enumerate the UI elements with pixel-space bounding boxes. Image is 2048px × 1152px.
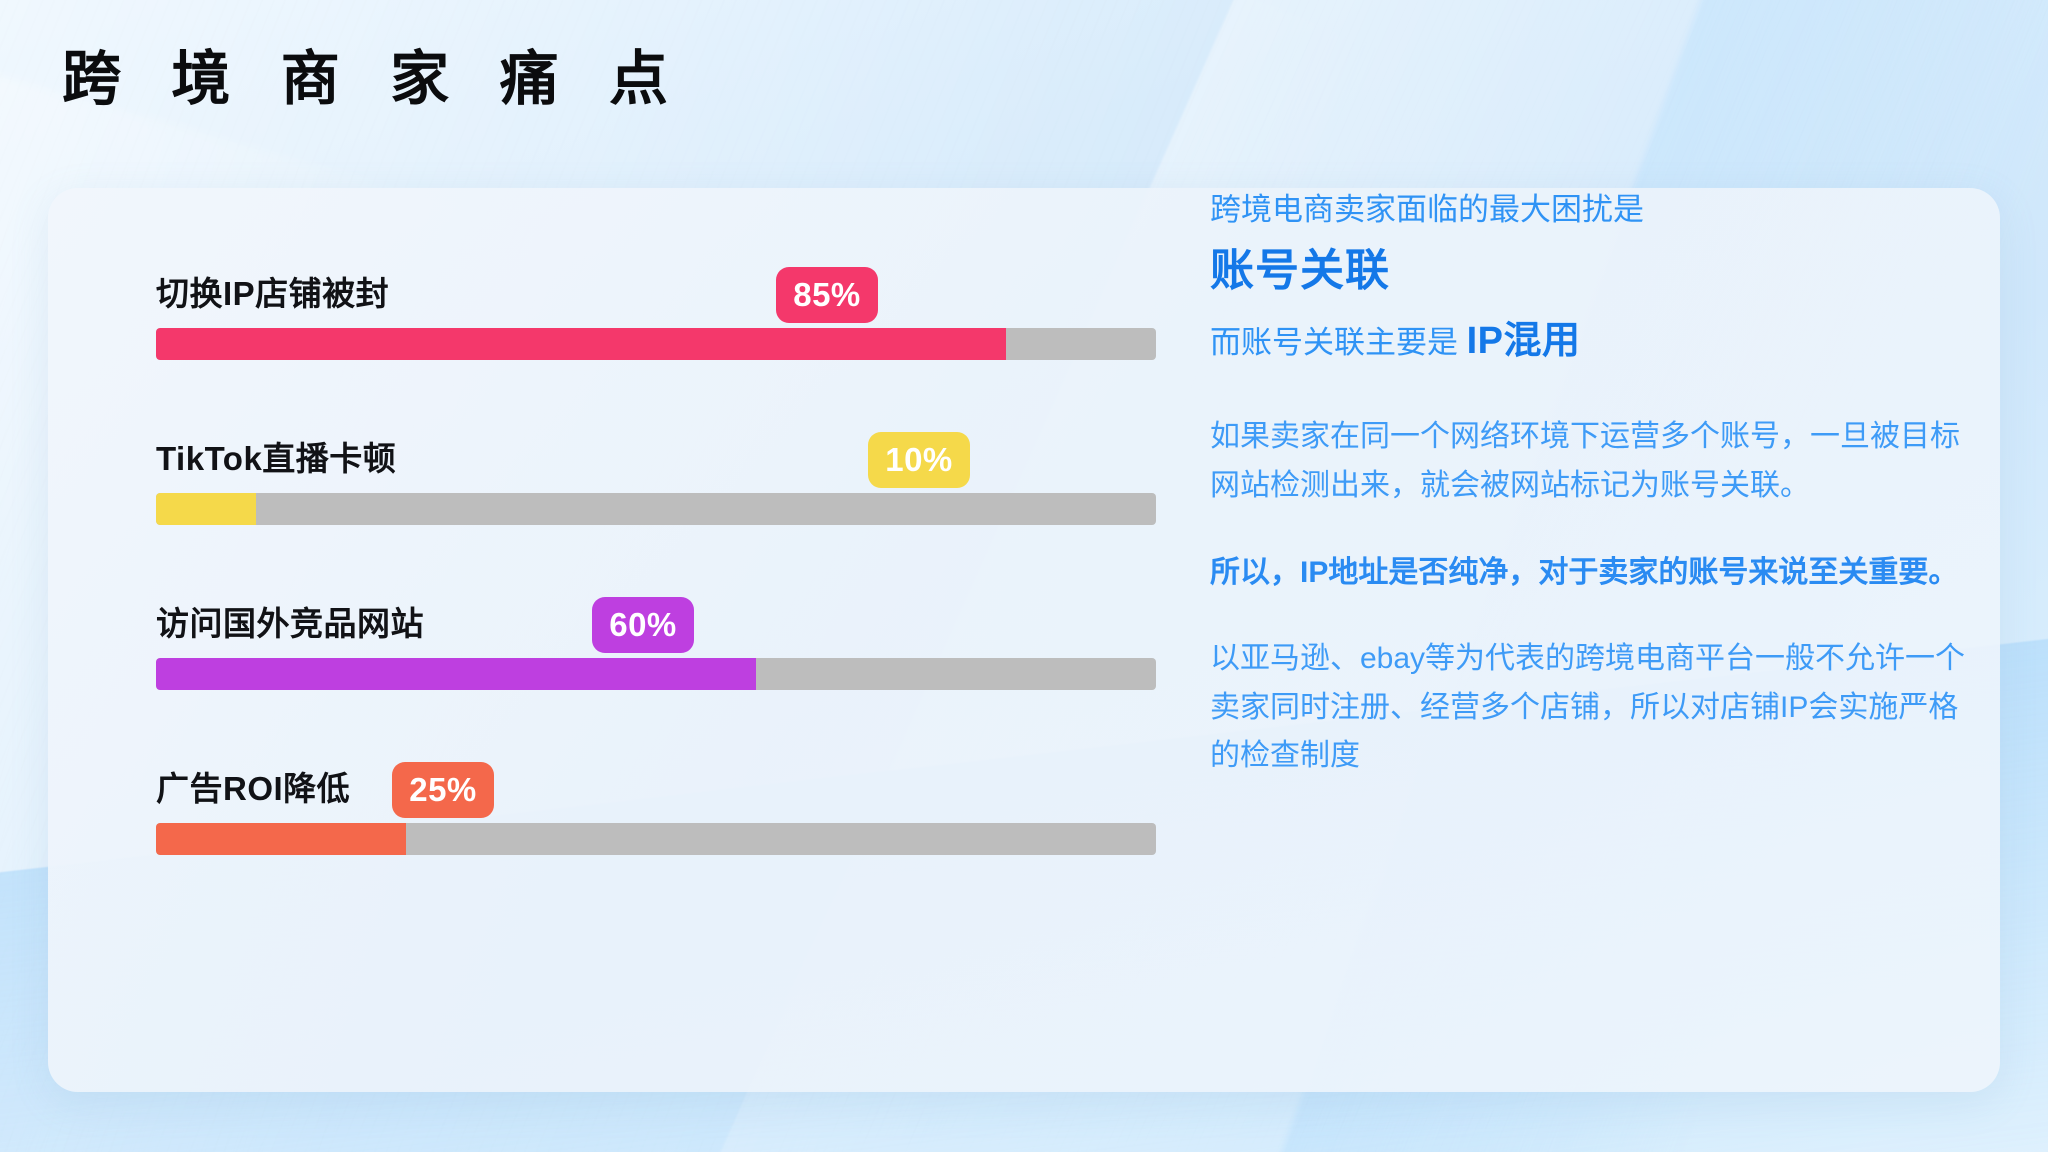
paragraph-1: 如果卖家在同一个网络环境下运营多个账号，一旦被目标网站检测出来，就会被网站标记为…: [1210, 413, 1970, 510]
spacer: [1210, 597, 1970, 635]
copy-hero: 账号关联: [1210, 241, 1970, 300]
content-card: 切换IP店铺被封 85% TikTok直播卡顿 10% 访问国外竞品网站: [48, 188, 2000, 1092]
bar-row: TikTok直播卡顿 10%: [108, 398, 1168, 563]
bar-label: 广告ROI降低: [156, 762, 350, 810]
bar-fill: [156, 658, 756, 690]
copy-sub: 而账号关联主要是 IP混用: [1210, 314, 1970, 369]
pain-point-bar-chart: 切换IP店铺被封 85% TikTok直播卡顿 10% 访问国外竞品网站: [108, 233, 1168, 893]
bar-value-badge: 60%: [592, 597, 694, 653]
bar-label: 切换IP店铺被封: [156, 267, 389, 315]
slide-canvas: 跨 境 商 家 痛 点 切换IP店铺被封 85% TikTok直播卡顿 10%: [0, 0, 2048, 1152]
bar-header: TikTok直播卡顿 10%: [108, 398, 1168, 484]
spacer: [1210, 369, 1970, 413]
bar-fill: [156, 823, 406, 855]
bar-header: 切换IP店铺被封 85%: [108, 233, 1168, 319]
bar-fill: [156, 328, 1006, 360]
bar-header: 广告ROI降低 25%: [108, 728, 1168, 814]
bar-value-badge: 85%: [776, 267, 878, 323]
bar-value-badge: 25%: [392, 762, 494, 818]
explanation-panel: 跨境电商卖家面临的最大困扰是 账号关联 而账号关联主要是 IP混用 如果卖家在同…: [1210, 188, 1970, 781]
bar-row: 广告ROI降低 25%: [108, 728, 1168, 893]
bar-label: 访问国外竞品网站: [156, 597, 424, 645]
copy-sub-accent: IP混用: [1467, 320, 1581, 362]
bar-value-badge: 10%: [868, 432, 970, 488]
bar-row: 访问国外竞品网站 60%: [108, 563, 1168, 728]
bar-track: [156, 823, 1156, 855]
bar-track: [156, 493, 1156, 525]
paragraph-3: 以亚马逊、ebay等为代表的跨境电商平台一般不允许一个卖家同时注册、经营多个店铺…: [1210, 635, 1970, 781]
spacer: [1210, 511, 1970, 549]
bar-track: [156, 328, 1156, 360]
bar-fill: [156, 493, 256, 525]
page-title: 跨 境 商 家 痛 点: [62, 50, 685, 109]
copy-lead: 跨境电商卖家面临的最大困扰是: [1210, 188, 1970, 233]
copy-sub-prefix: 而账号关联主要是: [1210, 325, 1458, 360]
paragraph-2: 所以，IP地址是否纯净，对于卖家的账号来说至关重要。: [1210, 549, 1970, 598]
bar-row: 切换IP店铺被封 85%: [108, 233, 1168, 398]
bar-track: [156, 658, 1156, 690]
bar-header: 访问国外竞品网站 60%: [108, 563, 1168, 649]
bar-label: TikTok直播卡顿: [156, 432, 396, 480]
